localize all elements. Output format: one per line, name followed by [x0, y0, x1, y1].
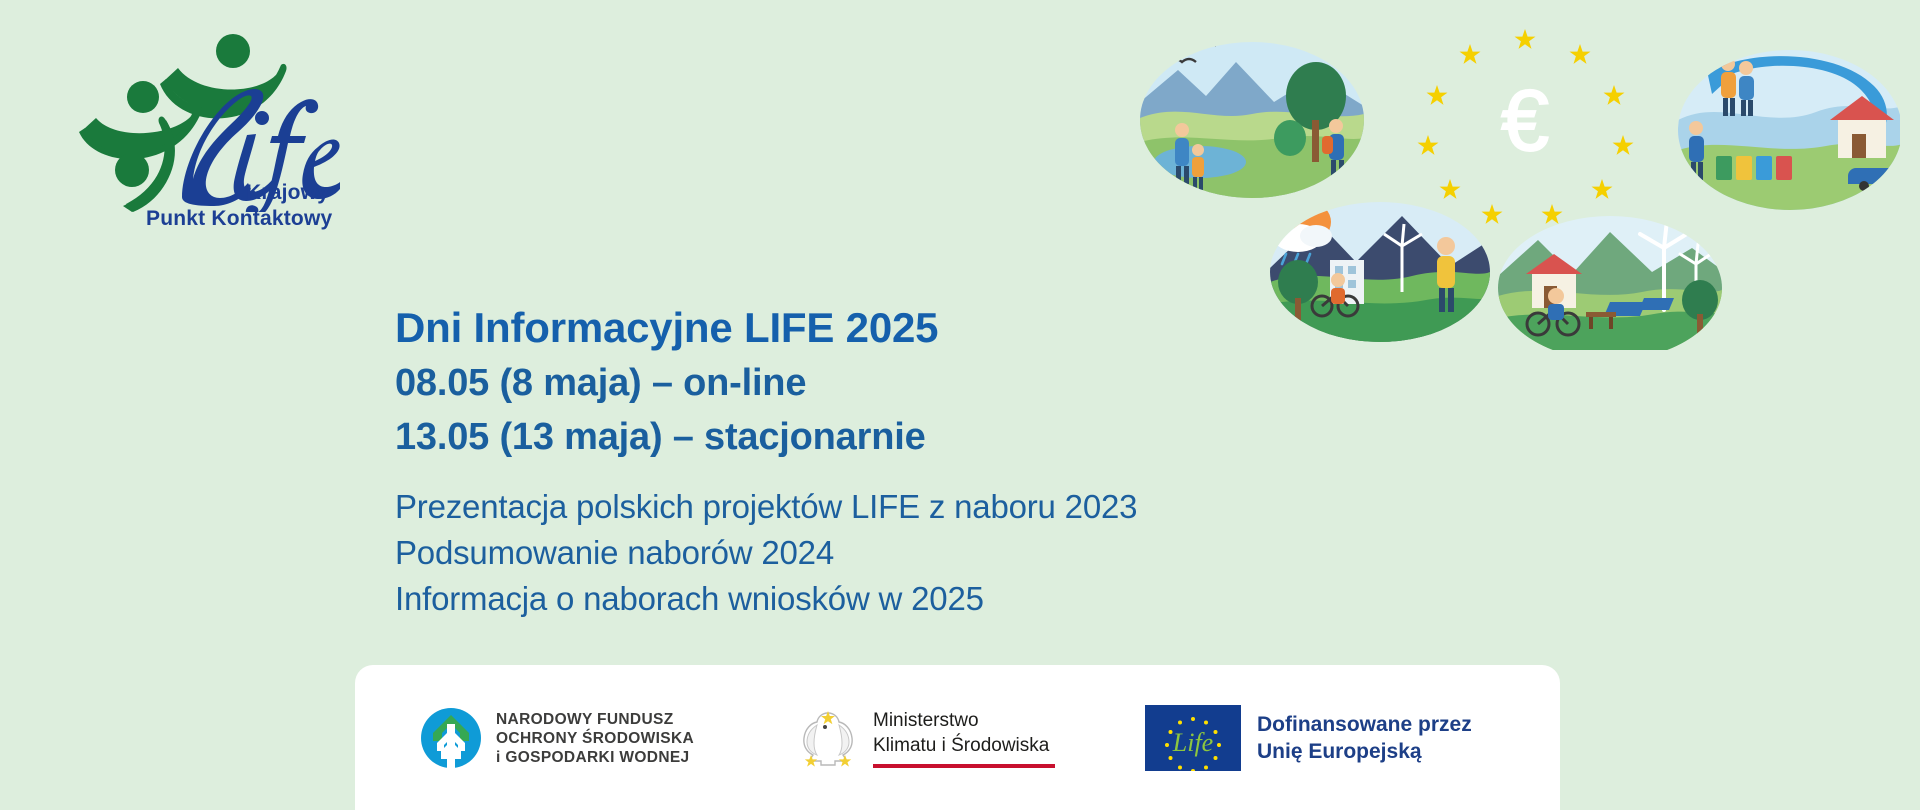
ministry-red-rule — [873, 764, 1055, 768]
agenda-item-1: Prezentacja polskich projektów LIFE z na… — [395, 484, 1395, 530]
nfosigw-line2: OCHRONY ŚRODOWISKA — [496, 730, 694, 747]
nature-landscape-scene — [1140, 42, 1364, 198]
main-copy: Dni Informacyjne LIFE 2025 08.05 (8 maja… — [395, 300, 1395, 622]
svg-text:€: € — [1501, 73, 1549, 169]
nfosigw-name: NARODOWY FUNDUSZ OCHRONY ŚRODOWISKA i GO… — [496, 710, 694, 767]
nfosigw-line3: i GOSPODARKI WODNEJ — [496, 749, 690, 766]
ministry-line1: Ministerstwo — [873, 710, 979, 731]
eu-stars-euro-symbol: € — [1418, 29, 1634, 224]
ministry-logo-block: Ministerstwo Klimatu i Środowiska — [795, 705, 1055, 771]
agenda-item-2: Podsumowanie naborów 2024 — [395, 530, 1395, 576]
kpk-caption-line2: Punkt Kontaktowy — [146, 206, 476, 232]
nfosigw-logo-block: NARODOWY FUNDUSZ OCHRONY ŚRODOWISKA i GO… — [420, 707, 694, 769]
date-line-onsite: 13.05 (13 maja) – stacjonarnie — [395, 410, 1395, 464]
kpk-caption-line1: Krajowy — [246, 180, 476, 206]
page-title: Dni Informacyjne LIFE 2025 — [395, 300, 1395, 356]
svg-text:Life: Life — [1172, 728, 1213, 757]
kpk-caption: Krajowy Punkt Kontaktowy — [246, 180, 476, 232]
footer-logo-panel: NARODOWY FUNDUSZ OCHRONY ŚRODOWISKA i GO… — [355, 665, 1560, 810]
ministry-line2: Klimatu i Środowiska — [873, 735, 1049, 756]
nfosigw-tree-icon — [420, 707, 482, 769]
ministry-name: Ministerstwo Klimatu i Środowiska — [873, 708, 1055, 768]
eu-line2: Unię Europejską — [1257, 740, 1422, 763]
eu-funding-text: Dofinansowane przez Unię Europejską — [1257, 711, 1472, 765]
life-illustration-cluster: € — [1140, 10, 1900, 350]
date-line-online: 08.05 (8 maja) – on-line — [395, 356, 1395, 410]
polish-eagle-icon — [795, 705, 861, 771]
nfosigw-line1: NARODOWY FUNDUSZ — [496, 711, 674, 728]
circular-economy-scene — [1678, 48, 1900, 214]
eu-life-flag-icon: Life — [1145, 705, 1241, 771]
agenda-item-3: Informacja o naborach wniosków w 2025 — [395, 576, 1395, 622]
eu-line1: Dofinansowane przez — [1257, 713, 1472, 736]
agenda-list: Prezentacja polskich projektów LIFE z na… — [395, 484, 1395, 622]
life-info-days-banner: Krajowy Punkt Kontaktowy — [0, 0, 1920, 810]
clean-energy-scene — [1498, 216, 1722, 350]
eu-funding-block: Life Dofinansowane przez Unię Europejską — [1145, 705, 1472, 771]
